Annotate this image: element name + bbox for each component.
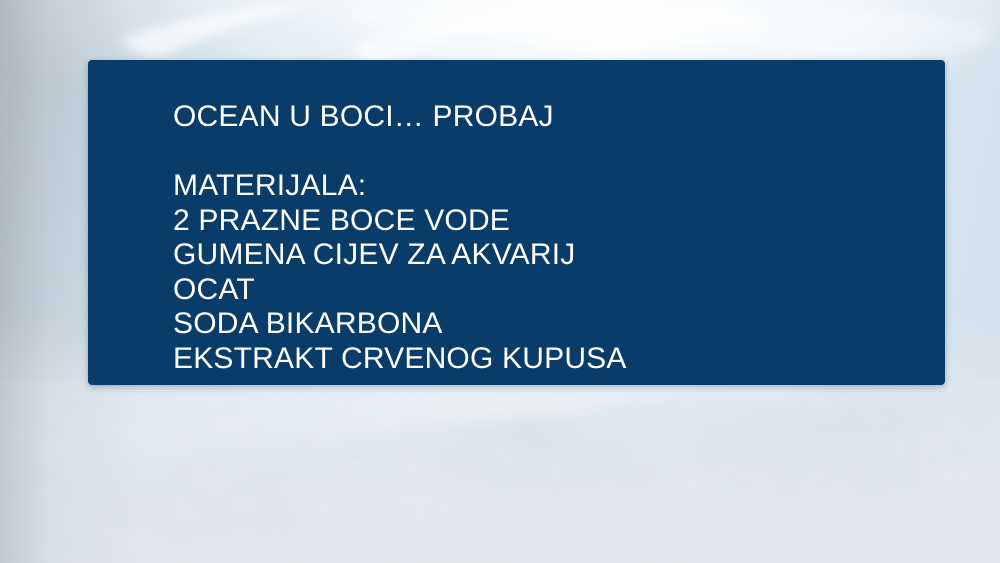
- title-spacer: [173, 135, 921, 170]
- materials-item: EKSTRAKT CRVENOG KUPUSA: [173, 342, 921, 377]
- materials-item: 2 PRAZNE BOCE VODE: [173, 204, 921, 239]
- panel-text-block: OCEAN U BOCI… PROBAJ MATERIJALA: 2 PRAZN…: [173, 100, 921, 376]
- presentation-slide: OCEAN U BOCI… PROBAJ MATERIJALA: 2 PRAZN…: [0, 0, 1000, 563]
- materials-item: OCAT: [173, 273, 921, 308]
- materials-heading: MATERIJALA:: [173, 169, 921, 204]
- slide-title: OCEAN U BOCI… PROBAJ: [173, 100, 921, 135]
- content-panel: OCEAN U BOCI… PROBAJ MATERIJALA: 2 PRAZN…: [88, 60, 945, 385]
- materials-item: GUMENA CIJEV ZA AKVARIJ: [173, 238, 921, 273]
- materials-item: SODA BIKARBONA: [173, 307, 921, 342]
